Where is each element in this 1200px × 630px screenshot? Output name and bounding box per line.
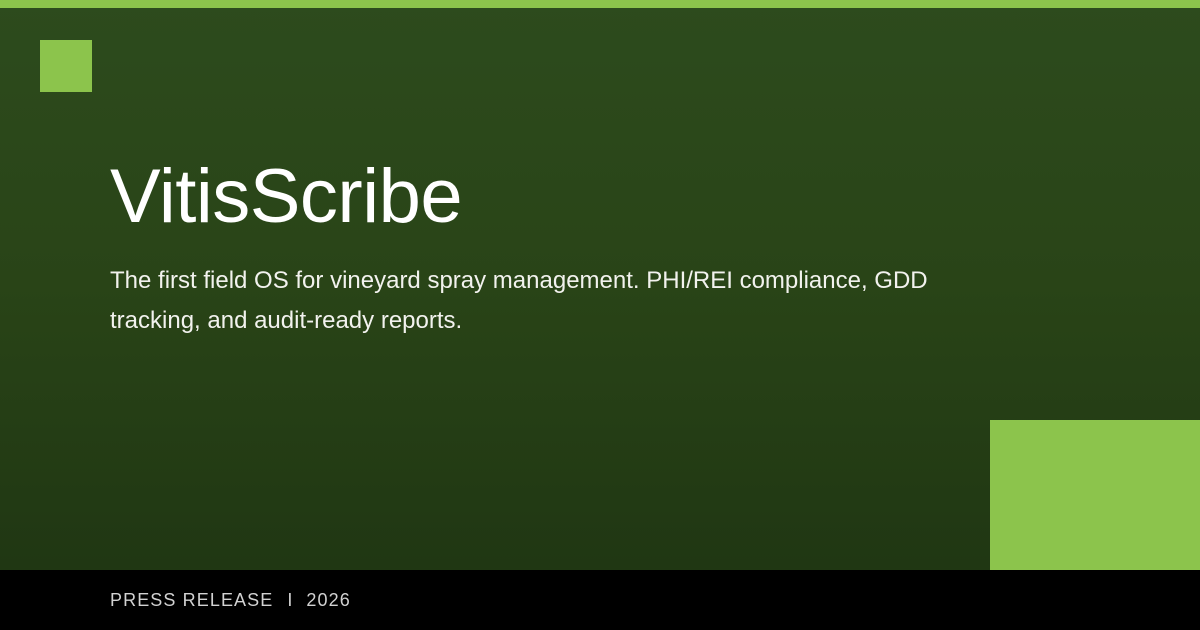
presentation-slide: VitisScribe The first field OS for viney… [0, 0, 1200, 630]
page-title: VitisScribe [110, 155, 1060, 239]
accent-block-decoration [990, 420, 1200, 570]
footer-content: PRESS RELEASE I 2026 [110, 570, 351, 630]
slide-footer: PRESS RELEASE I 2026 [0, 570, 1200, 630]
footer-year: 2026 [306, 591, 350, 609]
footer-label: PRESS RELEASE [110, 591, 273, 609]
top-accent-bar [0, 0, 1200, 8]
accent-square-decoration [40, 40, 92, 92]
slide-content: VitisScribe The first field OS for viney… [110, 155, 1060, 341]
footer-separator: I [273, 591, 306, 609]
slide-subtitle: The first field OS for vineyard spray ma… [110, 239, 1020, 341]
